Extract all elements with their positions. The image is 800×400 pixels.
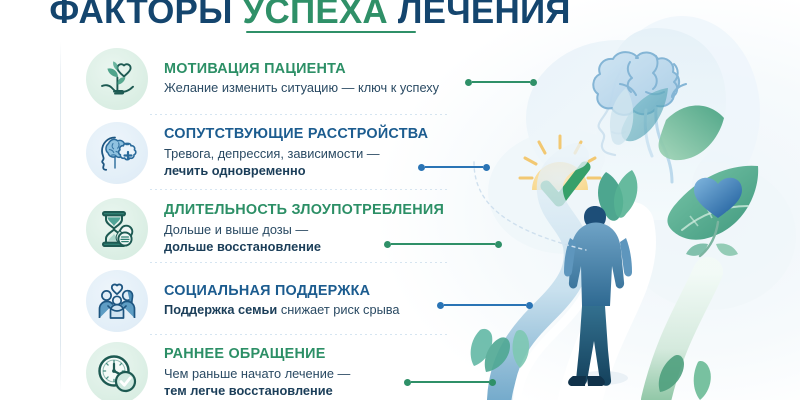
list-item-title: СОПУТСТВУЮЩИЕ РАССТРОЙСТВА (164, 126, 556, 143)
hourglass-pill-icon (86, 198, 148, 260)
list-item-subtitle: Желание изменить ситуацию — ключ к успех… (164, 80, 556, 97)
list-item-subtitle: Чем раньше начато лечение — тем легче во… (164, 366, 556, 400)
family-heart-icon (86, 270, 148, 332)
list-item-subtitle-line1: снижает риск срыва (277, 302, 399, 317)
list-item-title: РАННЕЕ ОБРАЩЕНИЕ (164, 346, 556, 363)
list-item-text: СОЦИАЛЬНАЯ ПОДДЕРЖКА Поддержка семьи сни… (164, 283, 556, 320)
list-item-title: ДЛИТЕЛЬНОСТЬ ЗЛОУПОТРЕБЛЕНИЯ (164, 202, 556, 219)
list-item-subtitle: Тревога, депрессия, зависимости — лечить… (164, 146, 556, 180)
list-item-motivation[interactable]: МОТИВАЦИЯ ПАЦИЕНТА Желание изменить ситу… (86, 44, 556, 114)
head-brain-plus-icon (86, 122, 148, 184)
list-item-subtitle-line1: Дольше и выше дозы — (164, 222, 308, 237)
list-item-title: СОЦИАЛЬНАЯ ПОДДЕРЖКА (164, 283, 556, 300)
list-item-duration-of-abuse[interactable]: ДЛИТЕЛЬНОСТЬ ЗЛОУПОТРЕБЛЕНИЯ Дольше и вы… (86, 194, 556, 264)
list-item-subtitle: Поддержка семьи снижает риск срыва (164, 302, 556, 319)
list-item-subtitle-bold: Поддержка семьи (164, 302, 277, 317)
factors-list: МОТИВАЦИЯ ПАЦИЕНТА Желание изменить ситу… (0, 0, 560, 400)
list-item-subtitle-line2: тем легче восстановление (164, 383, 556, 400)
list-item-text: МОТИВАЦИЯ ПАЦИЕНТА Желание изменить ситу… (164, 61, 556, 98)
list-item-title: МОТИВАЦИЯ ПАЦИЕНТА (164, 61, 556, 78)
list-item-subtitle-line1: Тревога, депрессия, зависимости — (164, 146, 380, 161)
list-item-subtitle-line2: дольше восстановление (164, 239, 556, 256)
clock-checkmark-icon (86, 342, 148, 400)
list-item-subtitle: Дольше и выше дозы — дольше восстановлен… (164, 222, 556, 256)
list-item-text: СОПУТСТВУЮЩИЕ РАССТРОЙСТВА Тревога, депр… (164, 126, 556, 179)
list-item-early-treatment[interactable]: РАННЕЕ ОБРАЩЕНИЕ Чем раньше начато лечен… (86, 338, 556, 400)
list-item-subtitle-line1: Желание изменить ситуацию — ключ к успех… (164, 80, 439, 95)
hand-holding-plant-heart-icon (86, 48, 148, 110)
list-item-subtitle-line1: Чем раньше начато лечение — (164, 366, 350, 381)
infographic-canvas: ФАКТОРЫ УСПЕХА ЛЕЧЕНИЯ (0, 0, 800, 400)
list-item-text: ДЛИТЕЛЬНОСТЬ ЗЛОУПОТРЕБЛЕНИЯ Дольше и вы… (164, 202, 556, 255)
list-item-subtitle-line2: лечить одновременно (164, 163, 556, 180)
list-item-text: РАННЕЕ ОБРАЩЕНИЕ Чем раньше начато лечен… (164, 346, 556, 399)
list-item-social-support[interactable]: СОЦИАЛЬНАЯ ПОДДЕРЖКА Поддержка семьи сни… (86, 266, 556, 336)
list-item-comorbid-disorders[interactable]: СОПУТСТВУЮЩИЕ РАССТРОЙСТВА Тревога, депр… (86, 118, 556, 188)
